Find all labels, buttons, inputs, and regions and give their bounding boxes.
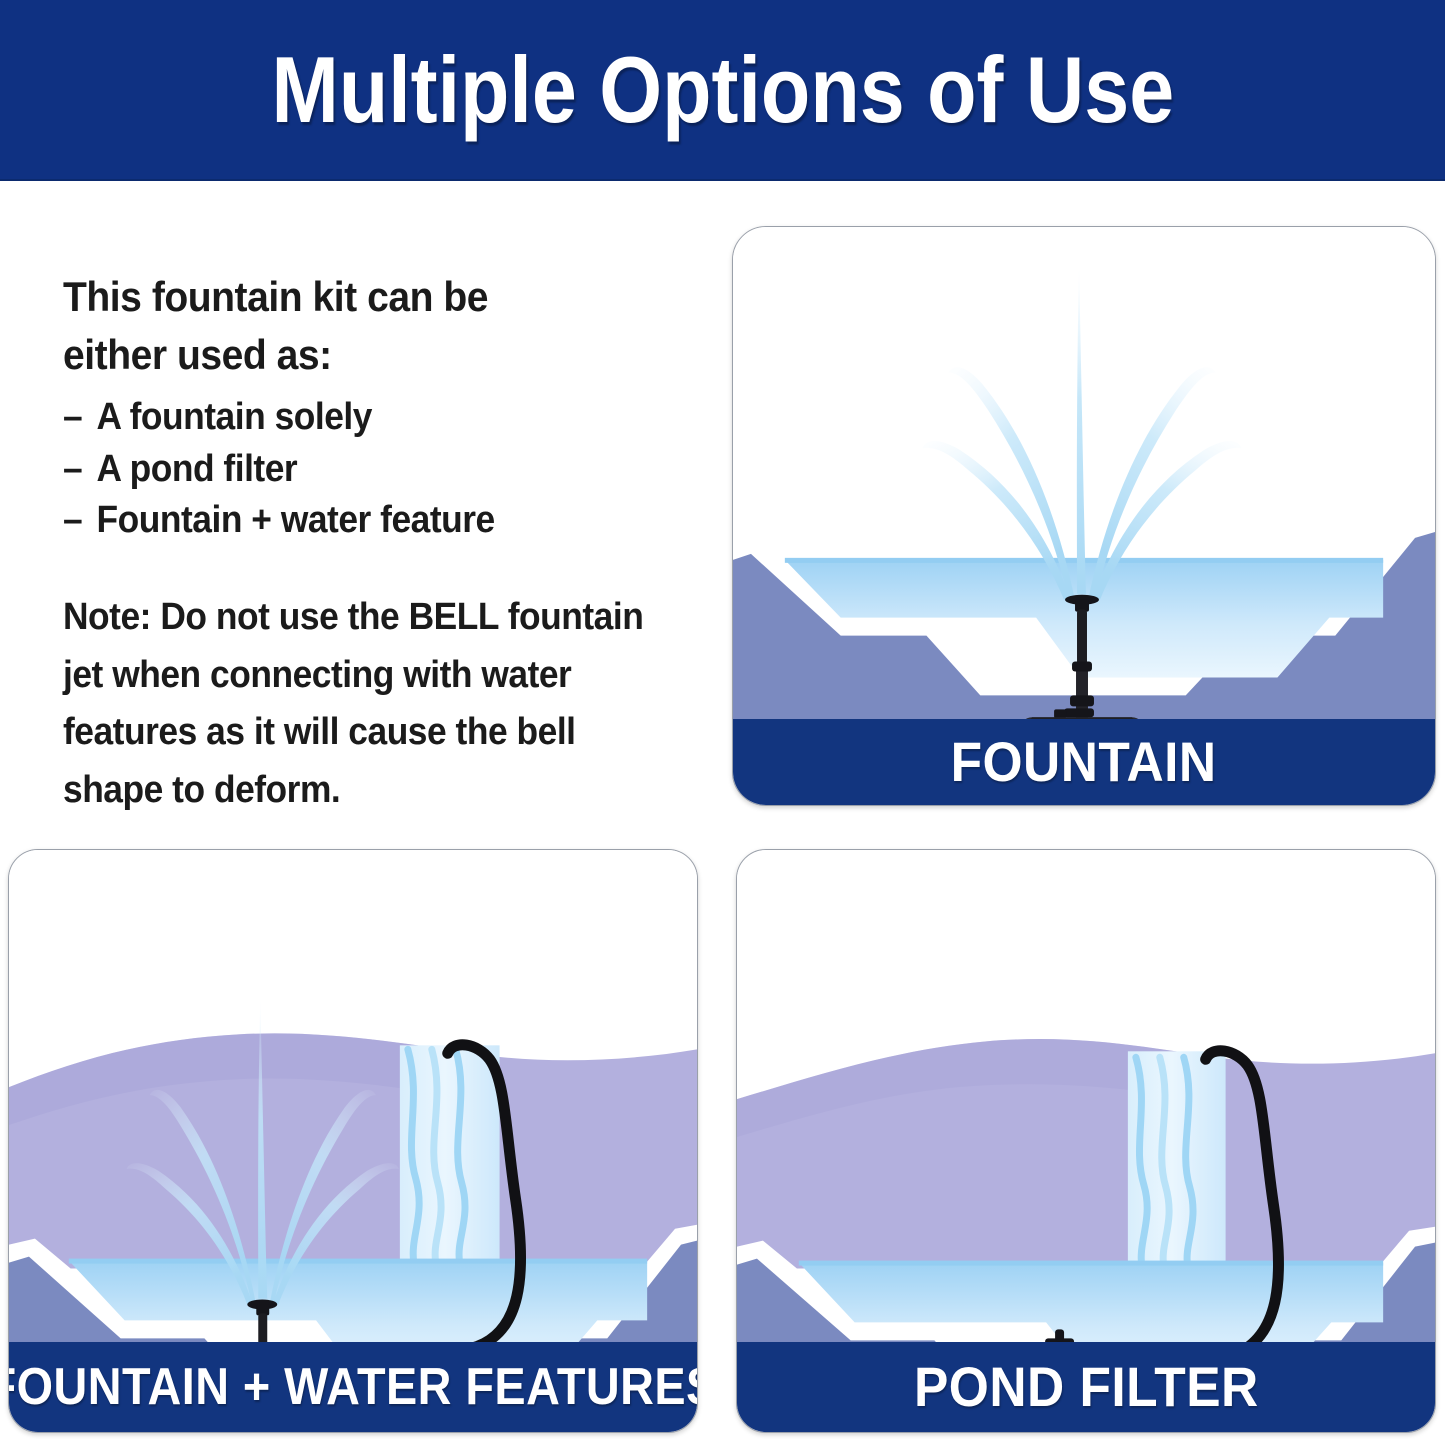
page-title: Multiple Options of Use xyxy=(271,43,1174,137)
list-item-label: A pond filter xyxy=(96,444,297,496)
list-item: – Fountain + water feature xyxy=(63,495,640,547)
waterfall-icon xyxy=(1128,1051,1226,1268)
panel-label: FOUNTAIN xyxy=(951,734,1217,790)
panel-fountain-water-features: FOUNTAIN + WATER FEATURES xyxy=(8,849,698,1433)
list-item: – A fountain solely xyxy=(63,392,640,444)
panel-label: FOUNTAIN + WATER FEATURES xyxy=(8,1361,698,1413)
panel-label-bar: POND FILTER xyxy=(737,1342,1435,1432)
description-column: This fountain kit can be either used as:… xyxy=(63,268,683,858)
bullet-dash-icon: – xyxy=(63,495,96,547)
lead-paragraph: This fountain kit can be either used as: xyxy=(63,268,640,384)
landscape-hill xyxy=(9,1033,697,1268)
lead-line-1: This fountain kit can be xyxy=(63,273,488,320)
panel-label: POND FILTER xyxy=(914,1359,1259,1415)
lead-line-2: either used as: xyxy=(63,331,332,378)
panel-label-bar: FOUNTAIN xyxy=(733,719,1435,805)
use-options-list: – A fountain solely – A pond filter – Fo… xyxy=(63,392,683,547)
panel-pond-filter: POND FILTER xyxy=(736,849,1436,1433)
landscape-hill xyxy=(737,1039,1435,1269)
bullet-dash-icon: – xyxy=(63,444,96,496)
list-item-label: A fountain solely xyxy=(96,392,371,444)
list-item-label: Fountain + water feature xyxy=(96,495,494,547)
waterfall-icon xyxy=(400,1045,500,1266)
panel-fountain: FOUNTAIN xyxy=(732,226,1436,806)
header-banner: Multiple Options of Use xyxy=(0,0,1445,181)
panel-label-bar: FOUNTAIN + WATER FEATURES xyxy=(9,1342,697,1432)
bullet-dash-icon: – xyxy=(63,392,96,444)
note-paragraph: Note: Do not use the BELL fountain jet w… xyxy=(63,589,677,820)
list-item: – A pond filter xyxy=(63,444,640,496)
